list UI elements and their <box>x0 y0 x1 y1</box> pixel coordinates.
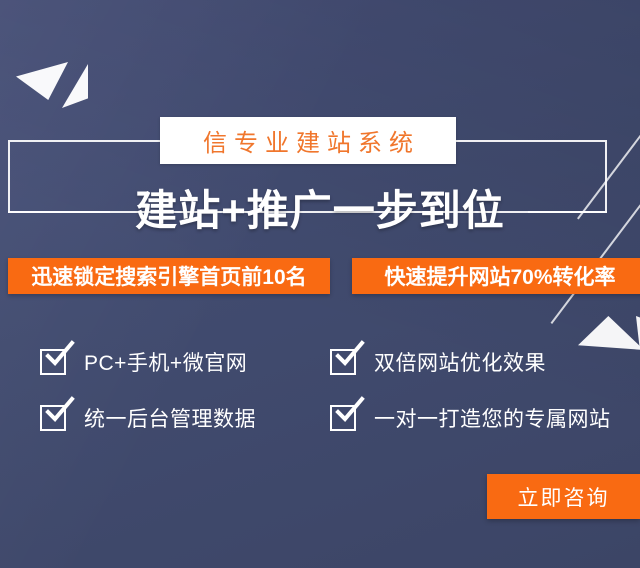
promo-banner: 信专业建站系统 建站+推广一步到位 迅速锁定搜索引擎首页前10名 快速提升网站7… <box>0 0 640 568</box>
checkbox-checked-icon <box>330 405 356 431</box>
title-plate-text: 信专业建站系统 <box>196 123 420 158</box>
checkbox-checked-icon <box>40 405 66 431</box>
list-item: PC+手机+微官网 <box>40 347 330 377</box>
feature-label: PC+手机+微官网 <box>84 347 247 377</box>
list-item: 双倍网站优化效果 <box>330 347 640 377</box>
checkbox-checked-icon <box>330 349 356 375</box>
feature-label: 统一后台管理数据 <box>84 403 256 433</box>
feature-list: PC+手机+微官网 双倍网站优化效果 统一后台管理数据 <box>40 334 640 446</box>
rank-strip: 迅速锁定搜索引擎首页前10名 <box>8 258 330 294</box>
feature-label: 一对一打造您的专属网站 <box>374 403 611 433</box>
list-item: 一对一打造您的专属网站 <box>330 403 640 433</box>
paper-plane-icon <box>16 62 96 110</box>
conversion-strip: 快速提升网站70%转化率 <box>352 258 640 294</box>
conversion-strip-text: 快速提升网站70%转化率 <box>384 261 615 291</box>
feature-row: PC+手机+微官网 双倍网站优化效果 <box>40 334 640 390</box>
checkbox-checked-icon <box>40 349 66 375</box>
headline-rule-right <box>528 211 607 213</box>
page-title: 建站+推广一步到位 <box>121 177 519 238</box>
headline-rule-left <box>8 211 110 213</box>
title-plate: 信专业建站系统 <box>160 117 456 164</box>
feature-row: 统一后台管理数据 一对一打造您的专属网站 <box>40 390 640 446</box>
consult-now-button[interactable]: 立即咨询 <box>487 474 640 519</box>
list-item: 统一后台管理数据 <box>40 403 330 433</box>
feature-label: 双倍网站优化效果 <box>374 347 546 377</box>
headline-row: 建站+推广一步到位 <box>0 178 640 236</box>
rank-strip-text: 迅速锁定搜索引擎首页前10名 <box>31 261 306 291</box>
